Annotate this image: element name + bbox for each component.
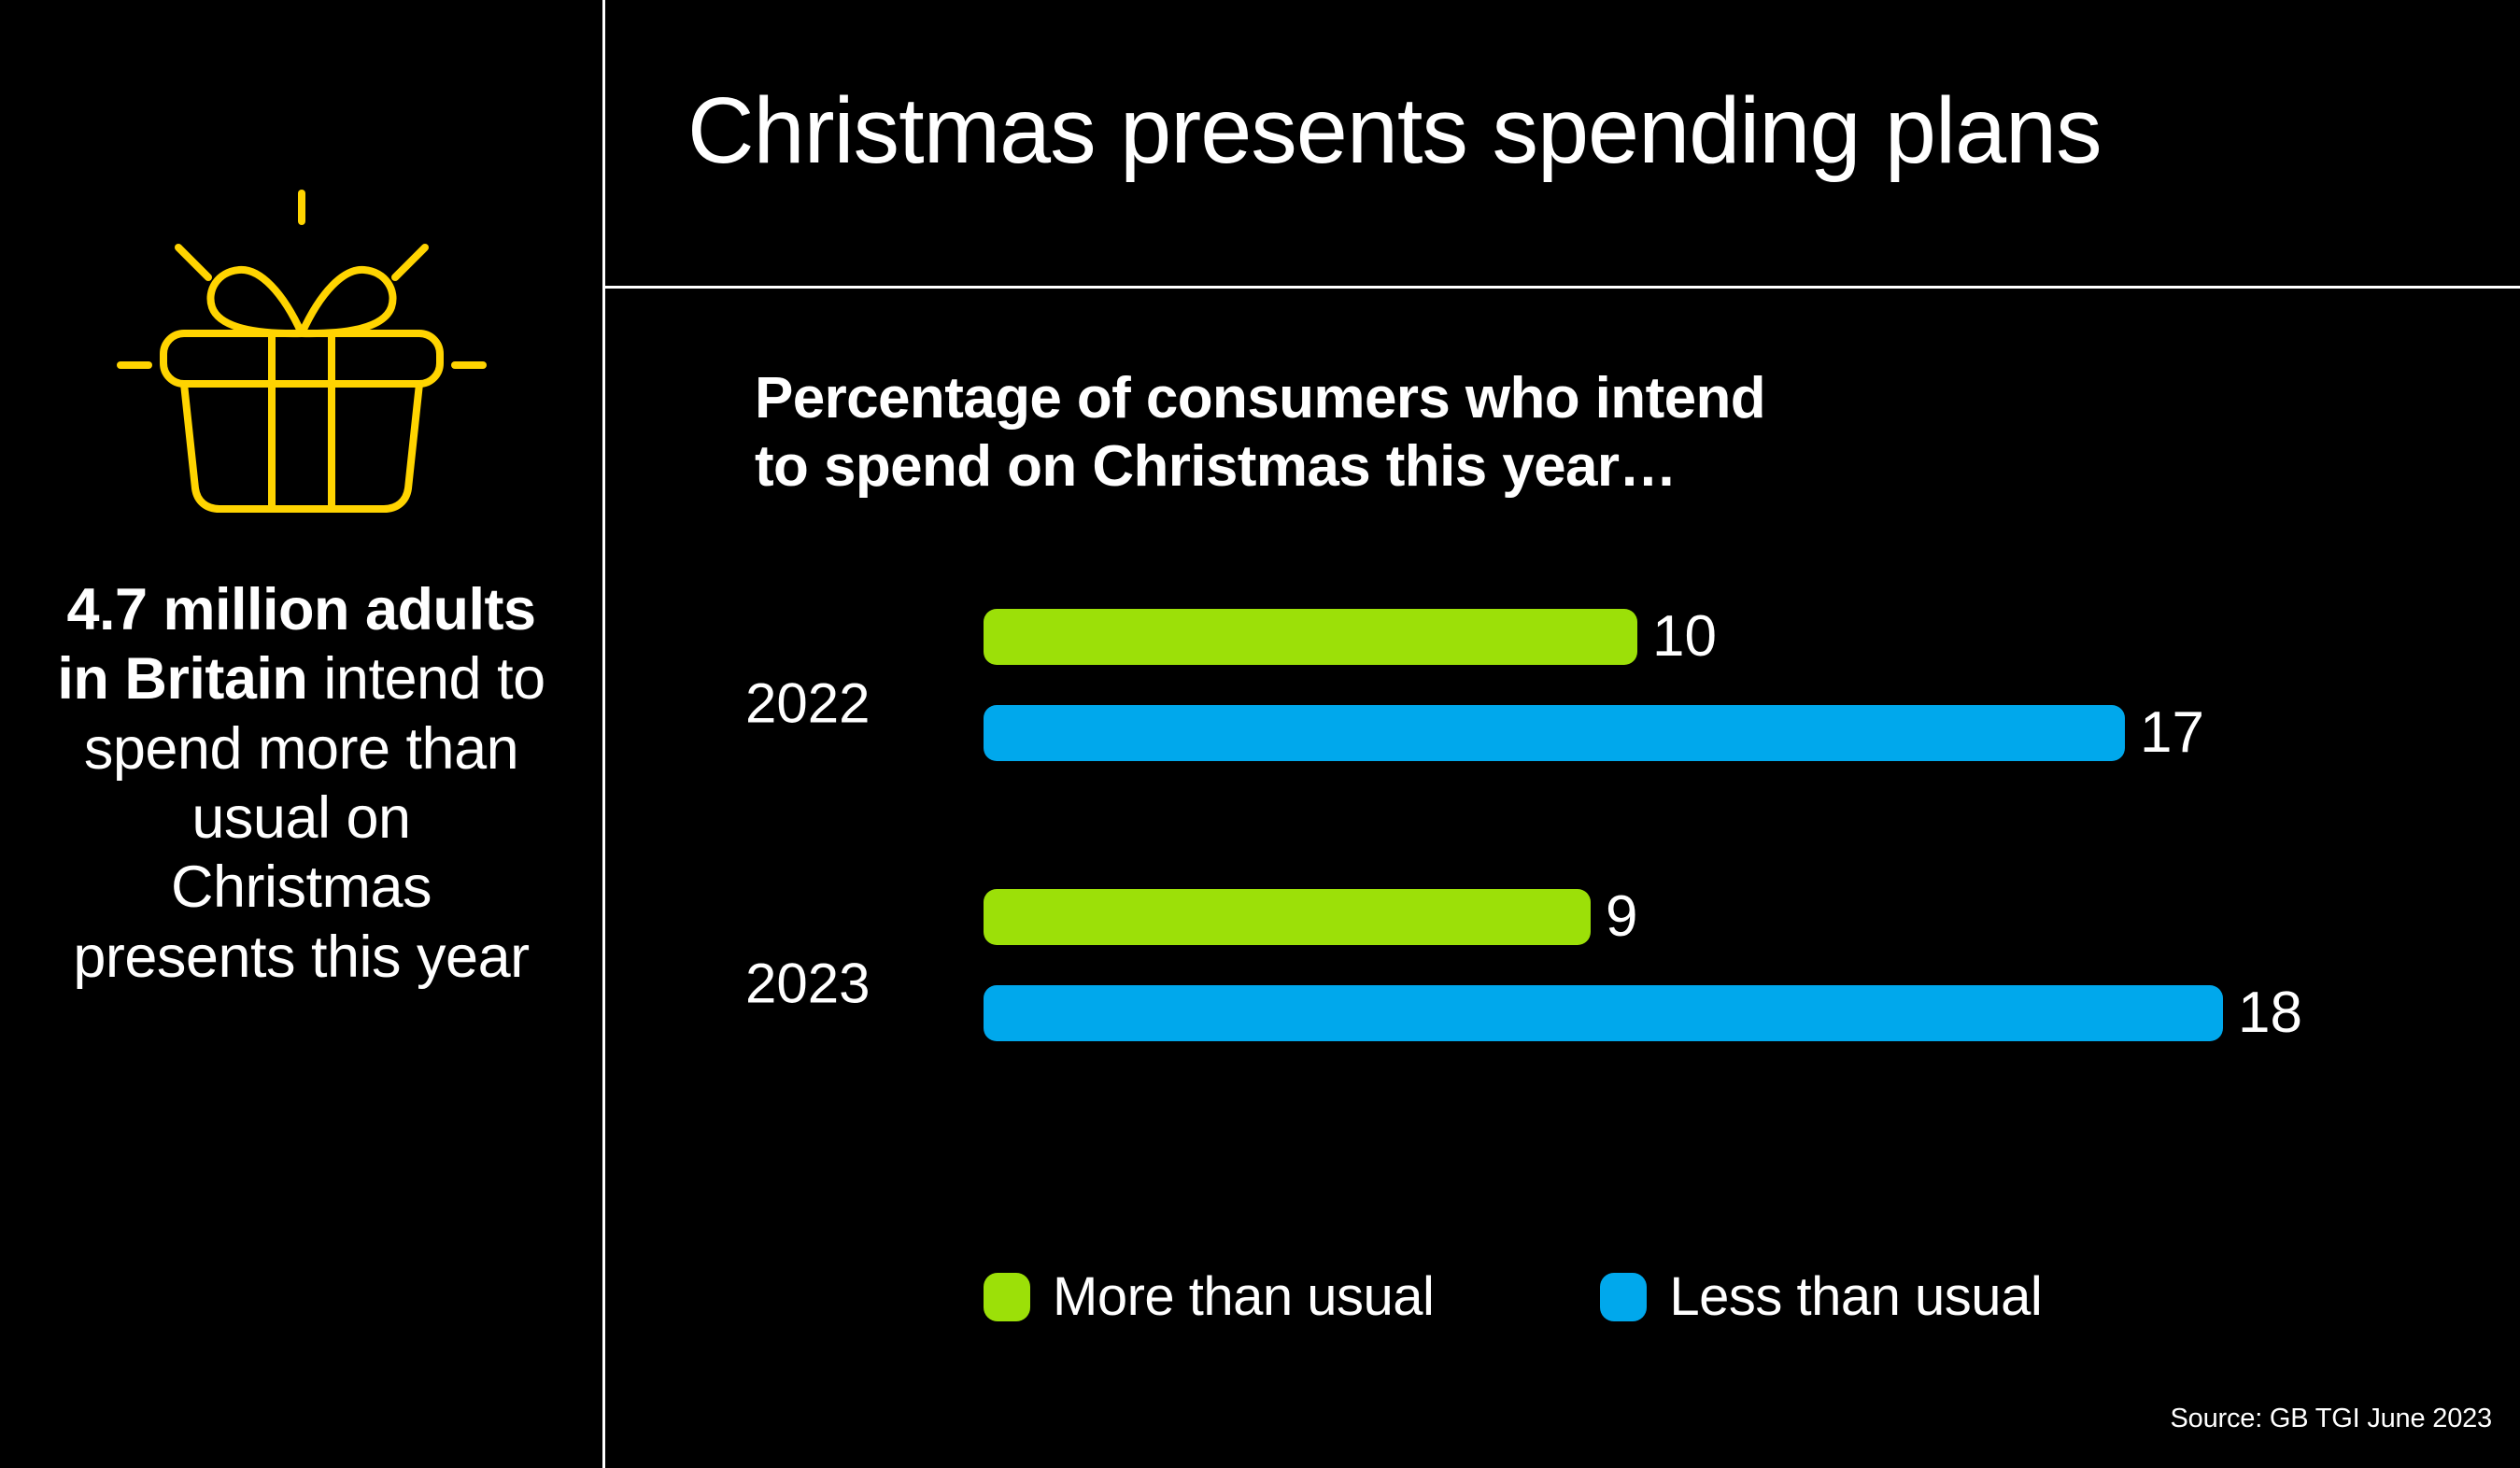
chart-subtitle: Percentage of consumers who intend to sp…: [755, 364, 1782, 501]
legend-swatch-more-than-usual: [984, 1273, 1030, 1321]
legend-label-more-than-usual: More than usual: [1053, 1265, 1434, 1328]
bar-row-2022-more: 10: [984, 609, 1717, 665]
gift-ray-upper-right: [395, 247, 425, 277]
chart-legend: More than usual Less than usual: [984, 1265, 2042, 1328]
gift-bow-right: [302, 270, 393, 333]
gift-icon: [87, 166, 517, 540]
source-note: Source: GB TGI June 2023: [2171, 1404, 2492, 1434]
bar-2022-more-than-usual: [984, 609, 1637, 665]
bar-2023-more-than-usual: [984, 889, 1591, 945]
right-content-panel: Christmas presents spending plans Percen…: [605, 0, 2520, 1468]
gift-box-body: [184, 384, 419, 509]
bar-2022-less-than-usual: [984, 705, 2125, 761]
bar-value-2023-more: 9: [1606, 888, 1637, 946]
bar-value-2022-less: 17: [2140, 704, 2204, 762]
bar-value-2023-less: 18: [2238, 984, 2302, 1042]
bar-group-2022: 2022 10 17: [605, 598, 2520, 809]
gift-lid: [163, 333, 440, 384]
legend-label-less-than-usual: Less than usual: [1669, 1265, 2042, 1328]
bar-row-2022-less: 17: [984, 705, 2204, 761]
gift-ray-upper-left: [178, 247, 208, 277]
bar-value-2022-more: 10: [1652, 608, 1717, 666]
legend-item-more-than-usual: More than usual: [984, 1265, 1434, 1328]
infographic-page: 4.7 million adults in Britain intend to …: [0, 0, 2520, 1468]
bar-row-2023-less: 18: [984, 985, 2302, 1041]
bar-row-2023-more: 9: [984, 889, 1637, 945]
left-sidebar: 4.7 million adults in Britain intend to …: [0, 0, 602, 1468]
bar-group-label-2022: 2022: [745, 671, 960, 736]
bar-group-2023: 2023 9 18: [605, 878, 2520, 1089]
gift-icon-svg: [106, 180, 498, 526]
page-title: Christmas presents spending plans: [687, 82, 2102, 180]
sidebar-statement: 4.7 million adults in Britain intend to …: [54, 575, 549, 992]
legend-item-less-than-usual: Less than usual: [1600, 1265, 2042, 1328]
bar-2023-less-than-usual: [984, 985, 2223, 1041]
legend-swatch-less-than-usual: [1600, 1273, 1647, 1321]
gift-bow-left: [210, 270, 302, 333]
bar-chart: 2022 10 17 2023 9 1: [605, 598, 2520, 1177]
bar-group-label-2023: 2023: [745, 952, 960, 1016]
